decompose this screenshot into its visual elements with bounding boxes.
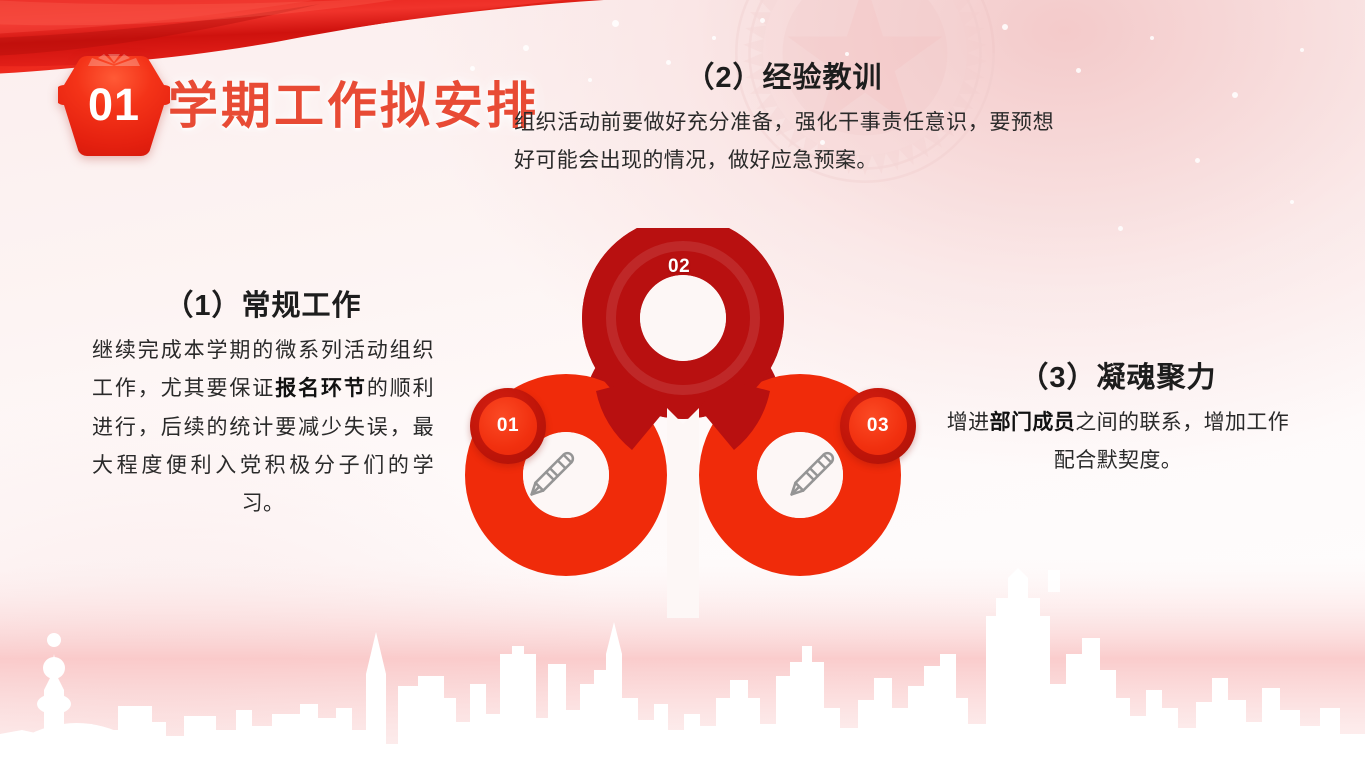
- block-3-body-bold: 部门成员: [990, 411, 1076, 434]
- pencil-icon: [518, 446, 580, 508]
- speckle: [1150, 36, 1154, 40]
- speckle: [1076, 68, 1081, 73]
- block-3-body-part2: 之间的联系，增加工作配合默契度。: [1054, 411, 1289, 472]
- speckle: [1232, 92, 1238, 98]
- block-2-heading: （2）经验教训: [514, 60, 1054, 96]
- speckle: [1118, 226, 1123, 231]
- block-2-body: 组织活动前要做好充分准备，强化干事责任意识，要预想好可能会出现的情况，做好应急预…: [514, 104, 1054, 180]
- speckle: [1195, 158, 1200, 163]
- speckle: [523, 45, 529, 51]
- section-header: 01 学期工作拟安排: [58, 52, 539, 160]
- speckle: [1300, 48, 1304, 52]
- diagram-node-01-number: 01: [497, 415, 519, 437]
- diagram-node-03-badge[interactable]: 03: [840, 388, 916, 464]
- pencil-icon: [778, 446, 840, 508]
- content-block-1: （1）常规工作 继续完成本学期的微系列活动组织工作，尤其要保证报名环节的顺利进行…: [92, 288, 434, 523]
- diagram-node-03-number: 03: [867, 415, 889, 437]
- slide-canvas: 01 学期工作拟安排 （1）常规工作 继续完成本学期的微系列活动组织工作，尤其要…: [0, 0, 1365, 768]
- block-1-body: 继续完成本学期的微系列活动组织工作，尤其要保证报名环节的顺利进行，后续的统计要减…: [92, 332, 434, 523]
- speckle: [1290, 200, 1294, 204]
- block-3-heading: （3）凝魂聚力: [944, 360, 1292, 396]
- block-1-body-bold: 报名环节: [275, 377, 367, 400]
- block-3-body: 增进部门成员之间的联系，增加工作配合默契度。: [944, 404, 1292, 480]
- diagram-node-02-number: 02: [668, 256, 690, 278]
- block-3-body-part1: 增进: [947, 411, 990, 434]
- block-1-heading: （1）常规工作: [92, 288, 434, 324]
- three-loop-diagram: 02 01 03: [418, 228, 948, 618]
- section-number-hexagon: 01: [58, 52, 170, 160]
- speckle: [612, 20, 619, 27]
- content-block-2: （2）经验教训 组织活动前要做好充分准备，强化干事责任意识，要预想好可能会出现的…: [514, 60, 1054, 181]
- speckle: [712, 36, 716, 40]
- speckle: [845, 52, 849, 56]
- content-block-3: （3）凝魂聚力 增进部门成员之间的联系，增加工作配合默契度。: [944, 360, 1292, 481]
- speckle: [1002, 24, 1008, 30]
- speckle: [760, 18, 765, 23]
- section-title: 学期工作拟安排: [168, 81, 539, 131]
- section-number-text: 01: [58, 52, 170, 160]
